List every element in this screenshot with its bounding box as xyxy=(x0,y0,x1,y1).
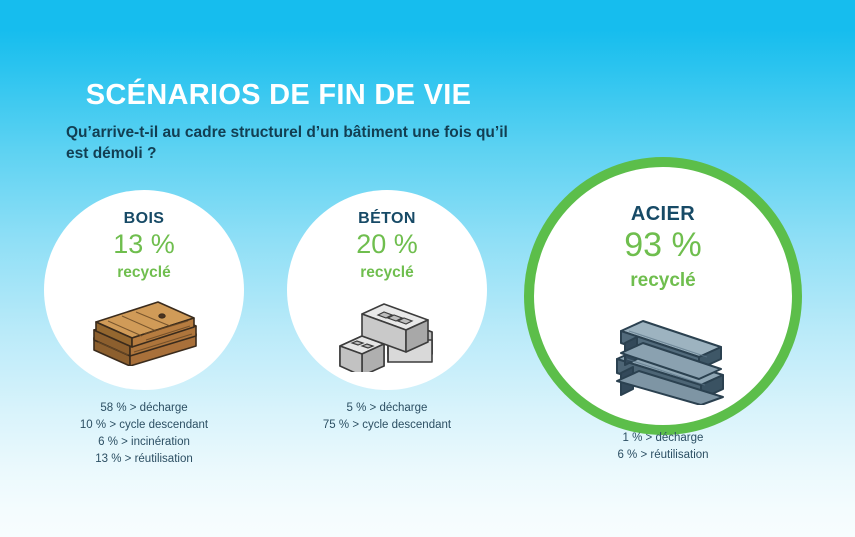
recycled-percent-beton: 20 % xyxy=(287,229,487,260)
recycled-percent-acier: 93 % xyxy=(534,226,792,265)
header-block: SCÉNARIOS DE FIN DE VIE Qu’arrive-t-il a… xyxy=(66,80,586,164)
fate-item: 1 % > décharge xyxy=(553,430,773,447)
fates-list-bois: 58 % > décharge 10 % > cycle descendant … xyxy=(44,400,244,468)
material-card-bois: BOIS 13 % recyclé xyxy=(44,190,244,390)
recycled-percent-bois: 13 % xyxy=(44,229,244,260)
fate-item: 75 % > cycle descendant xyxy=(287,417,487,434)
fate-item: 5 % > décharge xyxy=(287,400,487,417)
concrete-blocks-icon xyxy=(332,294,442,372)
page-title: SCÉNARIOS DE FIN DE VIE xyxy=(66,80,491,112)
material-card-acier: ACIER 93 % recyclé xyxy=(524,157,802,435)
recycled-label-acier: recyclé xyxy=(534,270,792,292)
material-name-bois: BOIS xyxy=(44,210,244,228)
fate-item: 6 % > incinération xyxy=(44,434,244,451)
recycled-label-beton: recyclé xyxy=(287,264,487,282)
icon-holder-acier xyxy=(534,297,792,412)
icon-holder-bois xyxy=(44,294,244,374)
fates-list-acier: 1 % > décharge 6 % > réutilisation xyxy=(553,430,773,464)
icon-holder-beton xyxy=(287,294,487,374)
fate-item: 6 % > réutilisation xyxy=(553,447,773,464)
steel-beams-icon xyxy=(599,297,727,405)
material-name-acier: ACIER xyxy=(534,203,792,226)
fate-item: 10 % > cycle descendant xyxy=(44,417,244,434)
infographic-canvas: SCÉNARIOS DE FIN DE VIE Qu’arrive-t-il a… xyxy=(0,0,855,537)
fate-item: 13 % > réutilisation xyxy=(44,451,244,468)
wood-planks-icon xyxy=(84,294,204,366)
material-name-beton: BÉTON xyxy=(287,210,487,228)
fates-list-beton: 5 % > décharge 75 % > cycle descendant xyxy=(287,400,487,434)
page-subtitle: Qu’arrive-t-il au cadre structurel d’un … xyxy=(66,123,526,164)
material-card-beton: BÉTON 20 % recyclé xyxy=(287,190,487,390)
fate-item: 58 % > décharge xyxy=(44,400,244,417)
recycled-label-bois: recyclé xyxy=(44,264,244,282)
